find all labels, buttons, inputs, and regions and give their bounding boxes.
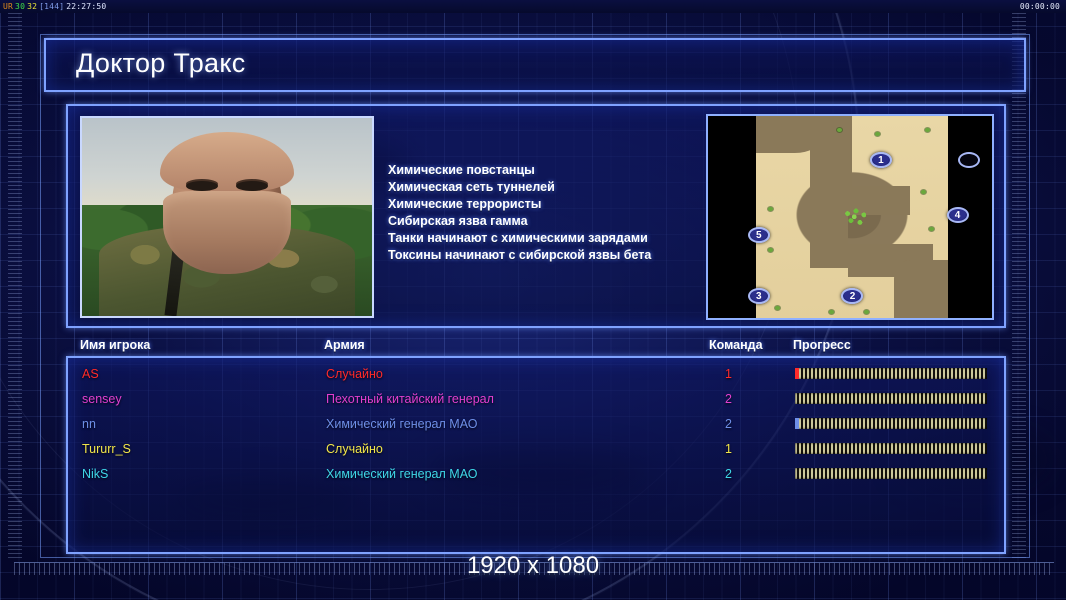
minimap[interactable]: 14532 — [706, 114, 994, 320]
player-army: Случайно — [326, 362, 383, 387]
description-line: Химические террористы — [388, 196, 651, 213]
info-panel: Химические повстанцы Химическая сеть тун… — [66, 104, 1006, 328]
player-name: sensey — [82, 387, 122, 412]
minimap-start-position-3[interactable]: 3 — [748, 288, 770, 304]
minimap-grass — [921, 190, 926, 194]
player-army: Химический генерал МАО — [326, 412, 477, 437]
table-row[interactable]: ASСлучайно1 — [68, 362, 1004, 387]
status-seg-fps: 30 — [14, 2, 26, 11]
player-army: Случайно — [326, 437, 383, 462]
minimap-grass — [775, 306, 780, 310]
column-header-progress: Прогресс — [793, 338, 851, 352]
player-progress-bar — [795, 368, 987, 379]
description-line: Химические повстанцы — [388, 162, 651, 179]
general-description: Химические повстанцы Химическая сеть тун… — [388, 162, 651, 264]
player-progress-bar — [795, 443, 987, 454]
minimap-grass — [768, 207, 773, 211]
minimap-grass — [829, 310, 834, 314]
player-team: 2 — [716, 462, 732, 487]
minimap-start-position-2[interactable]: 2 — [841, 288, 863, 304]
player-team: 2 — [716, 387, 732, 412]
player-progress-bar — [795, 468, 987, 479]
minimap-start-position-4[interactable]: 4 — [947, 207, 969, 223]
player-rows: ASСлучайно1senseyПехотный китайский гене… — [68, 362, 1004, 487]
player-team: 1 — [716, 437, 732, 462]
title-panel: Доктор Тракс — [44, 38, 1026, 92]
description-line: Сибирская язва гамма — [388, 213, 651, 230]
status-bar: UR3032[144]22:27:50 00:00:00 — [0, 0, 1066, 13]
player-army: Химический генерал МАО — [326, 462, 477, 487]
status-timer: 00:00:00 — [1020, 0, 1060, 13]
player-table-header: Имя игрока Армия Команда Прогресс — [66, 338, 1006, 358]
column-header-name: Имя игрока — [80, 338, 150, 352]
table-row[interactable]: NikSХимический генерал МАО2 — [68, 462, 1004, 487]
description-line: Токсины начинают с сибирской язвы бета — [388, 247, 651, 264]
player-progress-cap — [795, 418, 799, 429]
player-progress-bar — [795, 393, 987, 404]
minimap-grass — [864, 310, 869, 314]
column-header-army: Армия — [324, 338, 365, 352]
player-army: Пехотный китайский генерал — [326, 387, 494, 412]
status-seg-val: 32 — [26, 2, 38, 11]
status-seg-clock: 22:27:50 — [65, 2, 107, 11]
minimap-start-position-empty[interactable] — [958, 152, 980, 168]
column-header-team: Команда — [709, 338, 763, 352]
ruler-right — [1012, 13, 1026, 558]
minimap-grass — [929, 227, 934, 231]
player-progress-cap — [795, 368, 799, 379]
status-seg-ur: UR — [2, 2, 14, 11]
general-portrait — [80, 116, 374, 318]
player-name: NikS — [82, 462, 108, 487]
player-team: 1 — [716, 362, 732, 387]
description-line: Химическая сеть туннелей — [388, 179, 651, 196]
resolution-label: 1920 x 1080 — [0, 552, 1066, 580]
player-name: AS — [82, 362, 99, 387]
minimap-grass — [875, 132, 880, 136]
minimap-start-position-5[interactable]: 5 — [748, 227, 770, 243]
table-row[interactable]: Tururr_SСлучайно1 — [68, 437, 1004, 462]
ruler-left — [8, 13, 22, 558]
minimap-grass — [925, 128, 930, 132]
page-title: Доктор Тракс — [76, 48, 246, 79]
player-name: nn — [82, 412, 96, 437]
player-name: Tururr_S — [82, 437, 131, 462]
status-bar-left: UR3032[144]22:27:50 — [2, 0, 107, 13]
description-line: Танки начинают с химическими зарядами — [388, 230, 651, 247]
game-lobby-screen: UR3032[144]22:27:50 00:00:00 Доктор Трак… — [0, 0, 1066, 600]
table-row[interactable]: nnХимический генерал МАО2 — [68, 412, 1004, 437]
status-seg-ping: [144] — [38, 2, 65, 11]
player-team: 2 — [716, 412, 732, 437]
table-row[interactable]: senseyПехотный китайский генерал2 — [68, 387, 1004, 412]
minimap-grass — [768, 248, 773, 252]
minimap-oasis — [842, 207, 870, 229]
minimap-rock — [894, 260, 948, 320]
player-table-panel: ASСлучайно1senseyПехотный китайский гене… — [66, 356, 1006, 554]
player-progress-bar — [795, 418, 987, 429]
